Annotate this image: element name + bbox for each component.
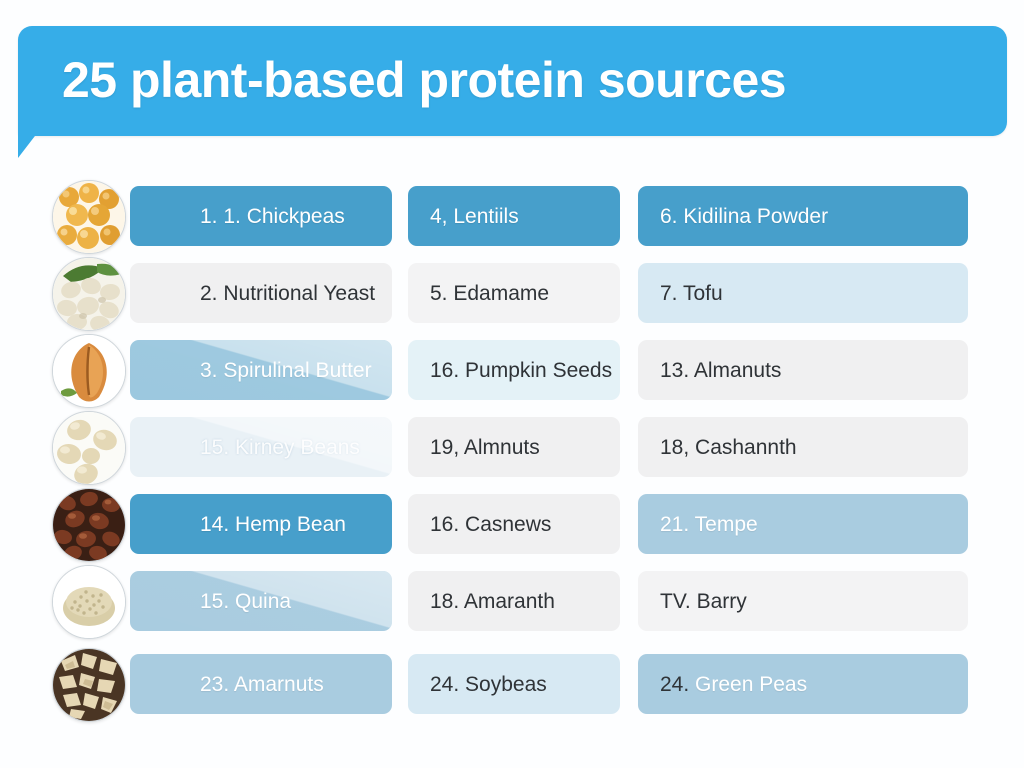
list-row[interactable]: 14. Hemp Bean bbox=[52, 494, 392, 554]
list-row[interactable]: 24. Soybeas bbox=[408, 654, 620, 714]
list-item-label: 4, Lentiils bbox=[430, 206, 519, 227]
list-row[interactable]: 4, Lentiils bbox=[408, 186, 620, 246]
list-item-label: 16. Casnews bbox=[430, 514, 551, 535]
list-row[interactable]: 16. Pumpkin Seeds bbox=[408, 340, 620, 400]
list-row[interactable]: TV. Barry bbox=[638, 571, 968, 631]
list-item-number: 24. bbox=[660, 673, 689, 696]
list-item-label: 21. Tempe bbox=[660, 514, 758, 535]
list-row[interactable]: 15. Quina bbox=[52, 571, 392, 631]
header-bubble-tail-icon bbox=[18, 132, 38, 158]
list-item-label: 3. Spirulinal Butter bbox=[200, 360, 372, 381]
list-item-pill[interactable]: 16. Pumpkin Seeds bbox=[408, 340, 620, 400]
list-item-label: 7. Tofu bbox=[660, 283, 723, 304]
protein-list-board: 1. 1. Chickpeas2. Nutritional Yeast3. Sp… bbox=[0, 186, 1024, 766]
list-item-label: 6. Kidilina Powder bbox=[660, 206, 828, 227]
almond-seed-thumb bbox=[52, 334, 126, 408]
list-row[interactable]: 6. Kidilina Powder bbox=[638, 186, 968, 246]
list-row[interactable]: 7. Tofu bbox=[638, 263, 968, 323]
quinoa-grain-thumb bbox=[52, 565, 126, 639]
list-item-label: 5. Edamame bbox=[430, 283, 549, 304]
list-item-pill[interactable]: 4, Lentiils bbox=[408, 186, 620, 246]
list-column-3: 6. Kidilina Powder7. Tofu13. Almanuts18,… bbox=[638, 186, 968, 731]
list-item-pill[interactable]: 13. Almanuts bbox=[638, 340, 968, 400]
list-item-pill[interactable]: 24. Soybeas bbox=[408, 654, 620, 714]
list-item-label: 18, Cashannth bbox=[660, 437, 797, 458]
round-beans-thumb bbox=[52, 411, 126, 485]
list-item-pill[interactable]: 7. Tofu bbox=[638, 263, 968, 323]
list-row[interactable]: 2. Nutritional Yeast bbox=[52, 263, 392, 323]
list-item-label: 16. Pumpkin Seeds bbox=[430, 360, 612, 381]
list-row[interactable]: 13. Almanuts bbox=[638, 340, 968, 400]
list-row[interactable]: 18, Cashannth bbox=[638, 417, 968, 477]
list-item-label: TV. Barry bbox=[660, 591, 747, 612]
list-item-pill[interactable]: 16. Casnews bbox=[408, 494, 620, 554]
list-item-pill[interactable]: TV. Barry bbox=[638, 571, 968, 631]
list-item-label: 14. Hemp Bean bbox=[200, 514, 346, 535]
list-row[interactable]: 24. Green Peas bbox=[638, 654, 968, 714]
list-column-2: 4, Lentiils5. Edamame16. Pumpkin Seeds19… bbox=[408, 186, 620, 731]
list-item-label: 13. Almanuts bbox=[660, 360, 781, 381]
list-item-label: 19, Almnuts bbox=[430, 437, 540, 458]
list-item-pill[interactable]: 21. Tempe bbox=[638, 494, 968, 554]
list-item-pill[interactable]: 15. Quina bbox=[130, 571, 392, 631]
list-column-1: 1. 1. Chickpeas2. Nutritional Yeast3. Sp… bbox=[52, 186, 392, 731]
list-row[interactable]: 19, Almnuts bbox=[408, 417, 620, 477]
list-item-label: 15. Quina bbox=[200, 591, 291, 612]
list-row[interactable]: 3. Spirulinal Butter bbox=[52, 340, 392, 400]
list-item-label: 15. Kirney Beans bbox=[200, 437, 360, 458]
list-row[interactable]: 21. Tempe bbox=[638, 494, 968, 554]
list-item-pill[interactable]: 3. Spirulinal Butter bbox=[130, 340, 392, 400]
list-row[interactable]: 5. Edamame bbox=[408, 263, 620, 323]
list-item-pill[interactable]: 2. Nutritional Yeast bbox=[130, 263, 392, 323]
list-row[interactable]: 15. Kirney Beans bbox=[52, 417, 392, 477]
list-row[interactable]: 23. Amarnuts bbox=[52, 654, 392, 714]
list-item-label: 1. 1. Chickpeas bbox=[200, 206, 345, 227]
page-title: 25 plant-based protein sources bbox=[62, 51, 786, 109]
list-row[interactable]: 1. 1. Chickpeas bbox=[52, 186, 392, 246]
header-banner: 25 plant-based protein sources bbox=[18, 26, 1007, 136]
list-item-pill[interactable]: 6. Kidilina Powder bbox=[638, 186, 968, 246]
list-item-label: 24. Green Peas bbox=[660, 674, 807, 695]
dark-beans-thumb bbox=[52, 488, 126, 562]
list-item-pill[interactable]: 18. Amaranth bbox=[408, 571, 620, 631]
chickpeas-thumb bbox=[52, 180, 126, 254]
chopped-nuts-thumb bbox=[52, 648, 126, 722]
list-item-pill[interactable]: 1. 1. Chickpeas bbox=[130, 186, 392, 246]
list-item-pill[interactable]: 14. Hemp Bean bbox=[130, 494, 392, 554]
list-item-pill[interactable]: 23. Amarnuts bbox=[130, 654, 392, 714]
list-item-label: 23. Amarnuts bbox=[200, 674, 324, 695]
list-row[interactable]: 16. Casnews bbox=[408, 494, 620, 554]
list-item-pill[interactable]: 18, Cashannth bbox=[638, 417, 968, 477]
white-beans-leaf-thumb bbox=[52, 257, 126, 331]
list-item-pill[interactable]: 5. Edamame bbox=[408, 263, 620, 323]
list-item-pill[interactable]: 24. Green Peas bbox=[638, 654, 968, 714]
list-row[interactable]: 18. Amaranth bbox=[408, 571, 620, 631]
list-item-pill[interactable]: 19, Almnuts bbox=[408, 417, 620, 477]
list-item-label: 24. Soybeas bbox=[430, 674, 547, 695]
list-item-label: 2. Nutritional Yeast bbox=[200, 283, 375, 304]
list-item-label: 18. Amaranth bbox=[430, 591, 555, 612]
list-item-pill[interactable]: 15. Kirney Beans bbox=[130, 417, 392, 477]
